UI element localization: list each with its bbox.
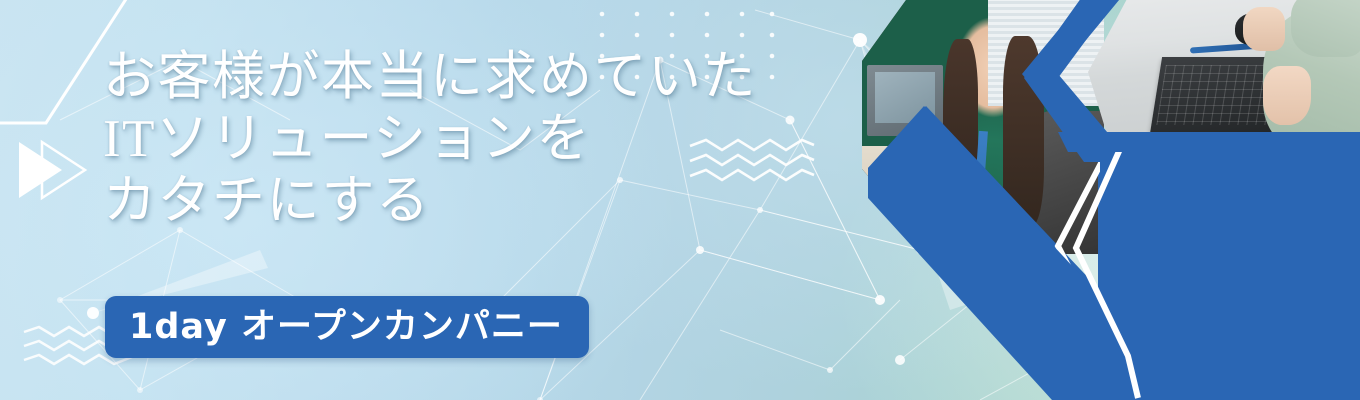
photo-collage <box>862 0 1360 400</box>
blue-chevron-accents <box>862 0 1360 400</box>
open-campus-badge-label: 1day オープンカンパニー <box>129 310 563 345</box>
headline-line-3: カタチにする <box>103 170 757 232</box>
recruit-hero-banner: お客様が本当に求めていた ITソリューションを カタチにする 1day オープン… <box>0 0 1360 400</box>
double-triangle-icon <box>14 139 98 201</box>
open-campus-badge[interactable]: 1day オープンカンパニー <box>105 296 589 358</box>
hero-headline: お客様が本当に求めていた ITソリューションを カタチにする <box>103 46 757 232</box>
headline-line-2: ITソリューションを <box>103 108 757 170</box>
headline-line-1: お客様が本当に求めていた <box>103 46 757 108</box>
